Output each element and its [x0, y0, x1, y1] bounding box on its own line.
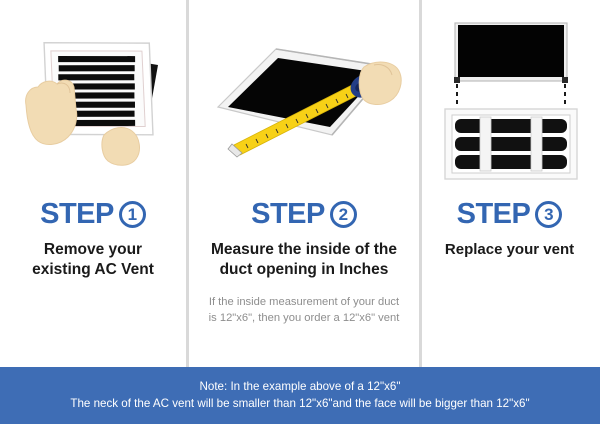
step-1-label: STEP: [40, 200, 114, 229]
banner-line-2: The neck of the AC vent will be smaller …: [70, 396, 529, 413]
step-3-title: Replace your vent: [445, 240, 574, 259]
banner-line-1: Note: In the example above of a 12"x6": [200, 379, 401, 396]
step-panel-1: STEP 1 Remove your existing AC Vent: [0, 0, 186, 367]
duct-opening-with-tape-measure-illustration: [189, 0, 419, 196]
step-1-title: Remove your existing AC Vent: [32, 240, 154, 280]
step-1-heading: STEP 1: [40, 200, 146, 229]
step-3-number-badge: 3: [535, 201, 562, 228]
hands-removing-vent-graphic: [8, 13, 178, 183]
step-2-heading: STEP 2: [251, 200, 357, 229]
ac-vent-steps-infographic: STEP 1 Remove your existing AC Vent: [0, 0, 600, 424]
step-3-label: STEP: [457, 200, 531, 229]
bottom-note-banner: Note: In the example above of a 12"x6" T…: [0, 367, 600, 424]
step-1-number-badge: 1: [119, 201, 146, 228]
duct-measure-graphic: [204, 23, 404, 173]
step-3-heading: STEP 3: [457, 200, 563, 229]
steps-panel-row: STEP 1 Remove your existing AC Vent: [0, 0, 600, 367]
hands-removing-vent-illustration: [0, 0, 186, 196]
step-panel-3: STEP 3 Replace your vent: [422, 0, 597, 367]
step-2-label: STEP: [251, 200, 325, 229]
vent-being-replaced-illustration: [422, 0, 597, 196]
step-panel-2: STEP 2 Measure the inside of the duct op…: [186, 0, 422, 367]
step-2-subnote: If the inside measurement of your duct i…: [209, 294, 400, 326]
vent-replace-graphic: [435, 11, 585, 186]
step-2-title: Measure the inside of the duct opening i…: [211, 240, 397, 280]
step-2-number-badge: 2: [330, 201, 357, 228]
